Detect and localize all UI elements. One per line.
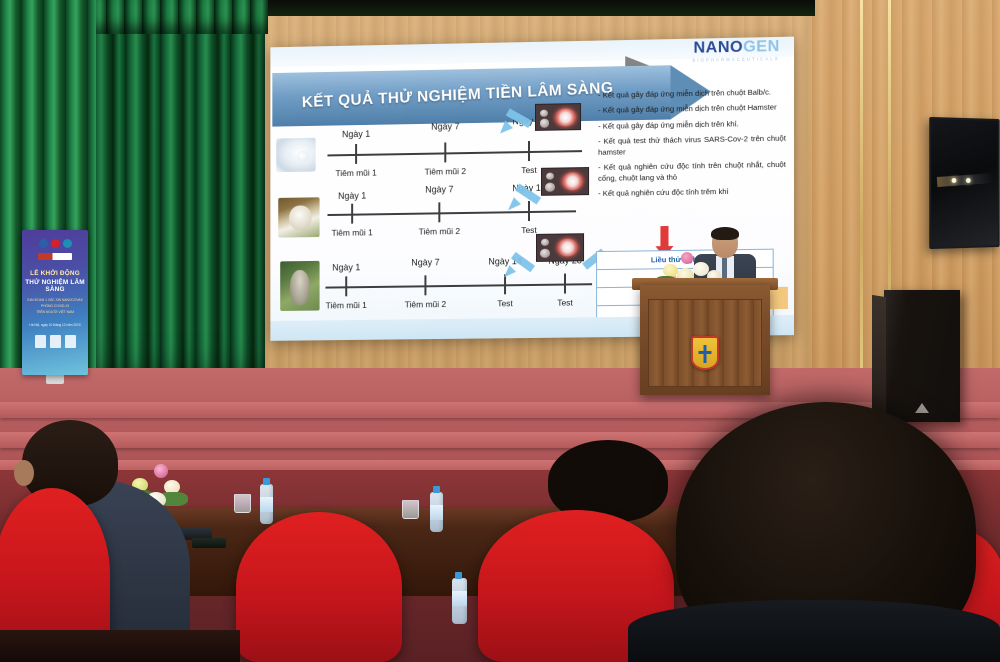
- presenter-hair: [711, 227, 739, 240]
- timeline-tick: [355, 144, 357, 164]
- speaker-side-panel: [872, 295, 886, 423]
- sponsor-logo-icon: [65, 335, 76, 348]
- timeline-label-top: Ngày 7: [411, 257, 439, 267]
- bullet-item: - Kết quả gây đáp ứng miễn dịch trên chu…: [598, 103, 786, 117]
- banner-logo-row: [22, 239, 88, 248]
- timeline-tick: [528, 141, 530, 161]
- timeline-label-top: Ngày 1: [332, 262, 360, 272]
- virus-particle: [557, 238, 578, 257]
- timeline-monkey: Ngày 1 Ngày 7 Ngày 14 Ngày 28 Tiêm mũi 1…: [325, 255, 592, 308]
- sponsor-logo-icon: [50, 335, 61, 348]
- foreground-person-shoulders: [628, 600, 1000, 662]
- timeline-label-bottom: Tiêm mũi 1: [326, 300, 367, 310]
- ministry-logo-icon: [63, 239, 72, 248]
- virus-small-particle: [541, 239, 549, 246]
- logo-wordmark: NANOGEN: [692, 39, 780, 57]
- red-down-arrow-icon: [660, 226, 668, 246]
- timeline-label-top: Ngày 1: [338, 191, 366, 201]
- virus-particle: [562, 172, 583, 191]
- animal-image-mouse: [276, 138, 315, 172]
- timeline-label-bottom: Test: [521, 165, 537, 175]
- timeline-tick: [351, 204, 353, 224]
- timeline-tick: [504, 274, 506, 294]
- table-phone: [192, 538, 226, 548]
- podium-emblem-icon: [691, 336, 719, 370]
- virus-small-particle: [540, 249, 550, 258]
- logo-nano-text: NANO: [693, 39, 743, 57]
- bullet-item: - Kết quả nghiên cứu độc tính trên chuột…: [598, 160, 786, 185]
- table-water-bottle: [452, 578, 467, 624]
- bullet-item: - Kết quả nghiên cứu độc tính trêm khỉ: [598, 186, 786, 200]
- curtain-valance: [88, 0, 268, 34]
- virus-micrograph-image: [541, 167, 589, 196]
- logo-gen-text: GEN: [743, 38, 780, 56]
- sponsor-logo-icon: [35, 335, 46, 348]
- audience-chair: [236, 512, 402, 662]
- banner-brand-logo: [38, 253, 72, 260]
- banner-stand: [46, 375, 64, 384]
- banner-date-line: Hà Nội, ngày 10 tháng 12 năm 2020: [22, 323, 88, 327]
- bottle-label: [260, 497, 273, 512]
- timeline-label-bottom: Tiêm mũi 2: [419, 226, 460, 237]
- national-emblem-icon: [51, 239, 60, 248]
- nanogen-logo: NANOGEN BIOPHARMACEUTICALS: [692, 39, 780, 63]
- timeline-tick: [528, 201, 530, 221]
- org-logo-icon: [39, 239, 48, 248]
- rollup-banner: LỄ KHỞI ĐỘNG THỬ NGHIỆM LÂM SÀNG GIAI ĐO…: [22, 230, 88, 375]
- flower: [681, 252, 693, 264]
- animal-image-hamster: [278, 197, 319, 237]
- tv-reflection: [936, 174, 992, 188]
- bullet-item: - Kết quả gây đáp ứng miễn dịch trên chu…: [598, 87, 786, 101]
- timeline-tick: [438, 202, 440, 222]
- table-water-glass: [402, 500, 419, 519]
- flower: [154, 464, 168, 478]
- speaker-brand-logo-icon: [915, 403, 929, 413]
- timeline-tick: [424, 275, 426, 295]
- banner-subtitle-line2: PHÒNG COVID-19: [22, 304, 88, 309]
- virus-small-particle: [546, 173, 554, 180]
- timeline-label-bottom: Tiêm mũi 2: [405, 299, 446, 309]
- timeline-label-bottom: Test: [521, 225, 537, 235]
- banner-subtitle-line1: GIAI ĐOẠN 1 VẮC XIN NANOCOVAX: [22, 298, 88, 303]
- audience-person-ear: [14, 460, 34, 486]
- bottle-label: [430, 505, 443, 520]
- timeline-label-top: Ngày 7: [425, 184, 453, 194]
- conference-photo-scene: NANOGEN BIOPHARMACEUTICALS KẾT QUẢ THỬ N…: [0, 0, 1000, 662]
- virus-small-particle: [540, 109, 548, 116]
- table-water-bottle: [430, 492, 443, 532]
- speaking-podium: [640, 285, 770, 395]
- timeline-tick: [444, 142, 446, 162]
- bullet-item: - Kết quả test thử thách virus SARS-Cov-…: [598, 133, 786, 158]
- timeline-label-top: Ngày 7: [431, 121, 459, 131]
- virus-small-particle: [540, 119, 550, 128]
- timeline-label-top: Ngày 1: [342, 129, 370, 139]
- animal-image-monkey: [280, 261, 319, 311]
- slide-bullet-list: - Kết quả gây đáp ứng miễn dịch trên chu…: [598, 87, 786, 204]
- table-water-bottle: [260, 484, 273, 524]
- bullet-item: - Kết quả gây đáp ứng miễn dịch trên khỉ…: [598, 118, 786, 132]
- timeline-tick: [564, 274, 566, 294]
- virus-particle: [555, 108, 575, 126]
- timeline-label-bottom: Test: [557, 297, 573, 307]
- timeline-axis: [325, 283, 592, 288]
- wall-tv-monitor: [929, 117, 999, 249]
- banner-sponsor-row: [22, 335, 88, 348]
- virus-small-particle: [545, 183, 555, 192]
- bottle-label: [452, 591, 467, 606]
- timeline-label-bottom: Tiêm mũi 1: [335, 168, 376, 179]
- table-water-glass: [234, 494, 251, 513]
- virus-micrograph-image: [535, 103, 581, 131]
- timeline-axis: [327, 210, 576, 216]
- timeline-label-bottom: Tiêm mũi 2: [425, 166, 466, 177]
- foreground-table-edge: [0, 630, 240, 662]
- stage-curtain-center: [90, 0, 265, 398]
- banner-title-line1: LỄ KHỞI ĐỘNG: [22, 270, 88, 277]
- tv-reflection-light: [952, 178, 957, 183]
- virus-micrograph-image: [536, 233, 584, 262]
- pa-loudspeaker: [884, 290, 960, 422]
- banner-title-line2: THỬ NGHIỆM LÂM SÀNG: [22, 279, 88, 293]
- timeline-tick: [345, 276, 347, 296]
- banner-subtitle-line3: TRÊN NGƯỜI VIỆT NAM: [22, 310, 88, 315]
- timeline-axis: [327, 150, 582, 156]
- timeline-label-bottom: Test: [497, 298, 513, 308]
- timeline-label-bottom: Tiêm mũi 1: [332, 227, 373, 238]
- podium-front-panel: [648, 299, 762, 387]
